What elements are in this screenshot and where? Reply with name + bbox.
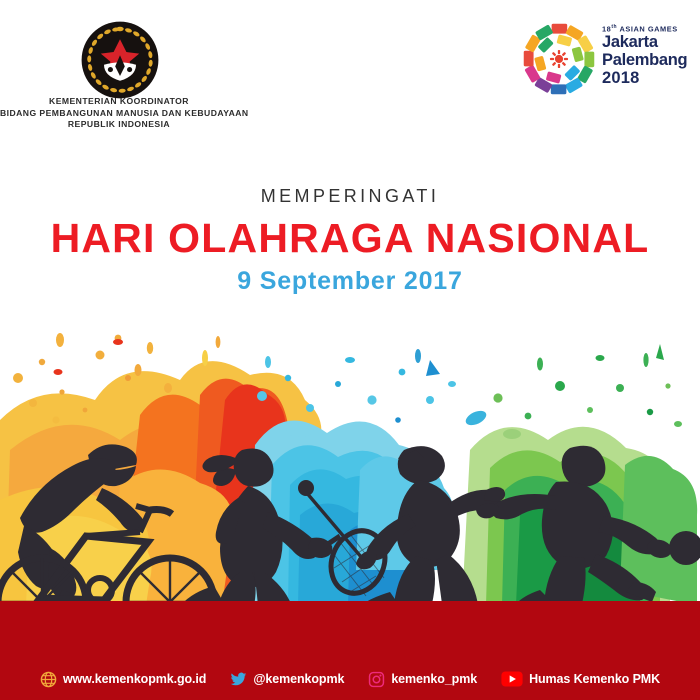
kemenko-pmk-emblem: [80, 20, 160, 100]
poster-canvas: KEMENTERIAN KOORDINATOR BIDANG PEMBANGUN…: [0, 0, 700, 700]
ministry-line-1: KEMENTERIAN KOORDINATOR: [0, 96, 238, 108]
website-label: www.kemenkopmk.go.id: [63, 672, 206, 686]
ministry-name: KEMENTERIAN KOORDINATOR BIDANG PEMBANGUN…: [0, 96, 238, 131]
social-item-website[interactable]: www.kemenkopmk.go.id: [40, 671, 206, 688]
asian-games-edition-suffix: th: [611, 24, 617, 30]
asian-games-year: 2018: [602, 69, 696, 87]
asian-games-wordmark: 18th ASIAN GAMES Jakarta Palembang 2018: [602, 22, 696, 87]
page-title: HARI OLAHRAGA NASIONAL: [0, 215, 700, 261]
twitter-label: @kemenkopmk: [253, 672, 344, 686]
asian-games-logo: 18th ASIAN GAMES Jakarta Palembang 2018: [518, 18, 694, 100]
social-item-instagram[interactable]: kemenko_pmk: [368, 671, 477, 688]
social-item-youtube[interactable]: Humas Kemenko PMK: [501, 671, 660, 687]
ministry-line-3: REPUBLIK INDONESIA: [0, 119, 238, 131]
asian-games-edition: 18: [602, 24, 611, 33]
instagram-icon: [368, 671, 385, 688]
social-item-twitter[interactable]: @kemenkopmk: [230, 671, 344, 688]
social-links: www.kemenkopmk.go.id @kemenkopmk kemenko…: [0, 668, 700, 690]
youtube-label: Humas Kemenko PMK: [529, 672, 660, 686]
youtube-icon: [501, 671, 523, 687]
asian-games-event: ASIAN GAMES: [620, 24, 678, 33]
event-date: 9 September 2017: [0, 267, 700, 296]
title-block: MEMPERINGATI HARI OLAHRAGA NASIONAL 9 Se…: [0, 186, 700, 296]
instagram-label: kemenko_pmk: [391, 672, 477, 686]
asian-games-city-2: Palembang: [602, 52, 696, 70]
ministry-line-2: BIDANG PEMBANGUNAN MANUSIA DAN KEBUDAYAA…: [0, 108, 238, 120]
twitter-icon: [230, 671, 247, 688]
asian-games-city-1: Jakarta: [602, 34, 696, 52]
eyebrow-text: MEMPERINGATI: [0, 186, 700, 207]
globe-icon: [40, 671, 57, 688]
asian-games-emblem-icon: [518, 18, 600, 100]
sports-artwork: [0, 300, 700, 605]
